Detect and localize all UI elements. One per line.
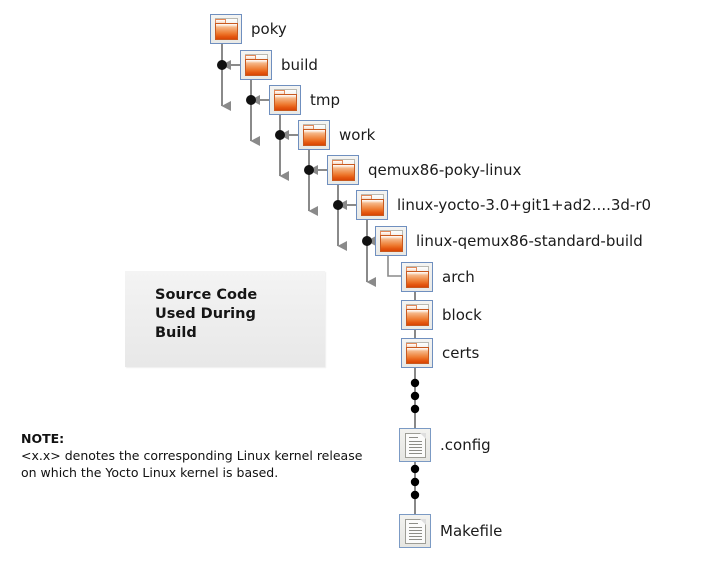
tree-node-config[interactable]: .config xyxy=(399,428,491,462)
document-icon xyxy=(399,514,431,548)
tree-node-build[interactable]: build xyxy=(240,50,318,80)
folder-icon xyxy=(269,85,301,115)
node-label: tmp xyxy=(310,93,340,108)
folder-icon xyxy=(240,50,272,80)
folder-icon xyxy=(210,14,242,44)
callout-line-1: Source Code xyxy=(155,286,257,305)
callout-text: Source Code Used During Build xyxy=(155,286,257,343)
tree-node-linux-yocto[interactable]: linux-yocto-3.0+git1+ad2....3d-r0 xyxy=(356,190,651,220)
folder-icon xyxy=(356,190,388,220)
folder-icon xyxy=(401,300,433,330)
source-code-callout-box: Source Code Used During Build xyxy=(125,271,325,367)
tree-node-block[interactable]: block xyxy=(401,300,482,330)
folder-icon xyxy=(375,226,407,256)
connector-layer xyxy=(0,0,705,581)
document-icon xyxy=(399,428,431,462)
node-label: block xyxy=(442,308,482,323)
tree-node-work[interactable]: work xyxy=(298,120,375,150)
node-label: certs xyxy=(442,346,479,361)
node-label: qemux86-poky-linux xyxy=(368,163,521,178)
node-label: linux-yocto-3.0+git1+ad2....3d-r0 xyxy=(397,198,651,213)
node-label: Makefile xyxy=(440,524,502,539)
folder-icon xyxy=(401,262,433,292)
tree-node-poky[interactable]: poky xyxy=(210,14,287,44)
node-label: build xyxy=(281,58,318,73)
tree-node-linux-qemux86-standard-build[interactable]: linux-qemux86-standard-build xyxy=(375,226,643,256)
node-label: poky xyxy=(251,22,287,37)
tree-node-certs[interactable]: certs xyxy=(401,338,479,368)
folder-icon xyxy=(327,155,359,185)
node-label: linux-qemux86-standard-build xyxy=(416,234,643,249)
node-label: work xyxy=(339,128,375,143)
tree-node-tmp[interactable]: tmp xyxy=(269,85,340,115)
callout-line-3: Build xyxy=(155,324,257,343)
note-body: <x.x> denotes the corresponding Linux ke… xyxy=(21,447,371,481)
tree-node-qemux86-poky-linux[interactable]: qemux86-poky-linux xyxy=(327,155,521,185)
tree-node-arch[interactable]: arch xyxy=(401,262,475,292)
node-label: .config xyxy=(440,438,491,453)
note-block: NOTE: <x.x> denotes the corresponding Li… xyxy=(21,431,381,481)
diagram-canvas: poky build tmp work qemux86-poky-linux xyxy=(0,0,705,581)
folder-icon xyxy=(401,338,433,368)
callout-line-2: Used During xyxy=(155,305,257,324)
note-heading: NOTE: xyxy=(21,431,381,447)
tree-node-makefile[interactable]: Makefile xyxy=(399,514,502,548)
folder-icon xyxy=(298,120,330,150)
node-label: arch xyxy=(442,270,475,285)
